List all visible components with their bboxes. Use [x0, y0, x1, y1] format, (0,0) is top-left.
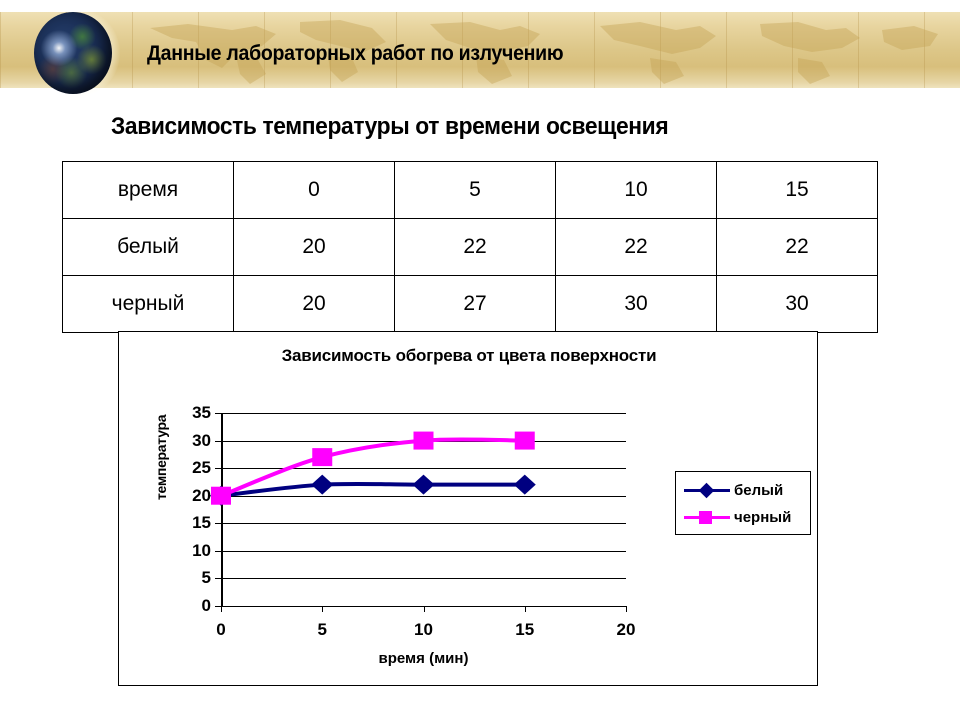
y-tick-label: 10 — [192, 541, 211, 561]
header-banner: Данные лабораторных работ по излучению — [0, 12, 960, 88]
x-tick-label: 20 — [617, 620, 636, 640]
table-cell: 5 — [395, 162, 556, 219]
chart-legend: белый черный — [675, 471, 811, 535]
data-point-белый — [311, 475, 333, 495]
legend-label: белый — [734, 482, 783, 499]
x-tick — [626, 606, 627, 612]
y-axis-label: температура — [153, 415, 169, 500]
series-line-белый — [221, 484, 525, 496]
data-point-черный — [312, 448, 332, 466]
slide-heading: Зависимость температуры от времени освещ… — [111, 113, 668, 141]
x-tick-label: 10 — [414, 620, 433, 640]
table-row-label: черный — [63, 276, 234, 333]
y-tick-label: 30 — [192, 431, 211, 451]
table-row: белый 20 22 22 22 — [63, 219, 878, 276]
x-tick — [525, 606, 526, 612]
table-cell: 27 — [395, 276, 556, 333]
data-point-черный — [414, 432, 434, 450]
page-title: Данные лабораторных работ по излучению — [147, 42, 563, 66]
table-cell: 20 — [234, 276, 395, 333]
data-point-белый — [413, 475, 435, 495]
table-row: время 0 5 10 15 — [63, 162, 878, 219]
table-row-label: белый — [63, 219, 234, 276]
data-point-черный — [515, 432, 535, 450]
table-row: черный 20 27 30 30 — [63, 276, 878, 333]
globe-sphere — [34, 12, 112, 94]
x-tick-label: 5 — [318, 620, 327, 640]
table-cell: 20 — [234, 219, 395, 276]
legend-marker-square-icon — [684, 509, 730, 525]
y-tick-label: 5 — [202, 568, 211, 588]
data-point-белый — [514, 475, 536, 495]
table-cell: 22 — [717, 219, 878, 276]
x-tick — [322, 606, 323, 612]
data-point-черный — [211, 487, 231, 505]
y-tick-label: 35 — [192, 403, 211, 423]
y-tick-label: 15 — [192, 513, 211, 533]
legend-label: черный — [734, 509, 791, 526]
chart-title: Зависимость обогрева от цвета поверхност… — [119, 346, 819, 366]
y-tick-label: 0 — [202, 596, 211, 616]
x-axis-label: время (мин) — [221, 650, 626, 667]
x-tick-label: 0 — [216, 620, 225, 640]
table-cell: 22 — [395, 219, 556, 276]
globe-icon — [26, 6, 118, 98]
chart-container: Зависимость обогрева от цвета поверхност… — [118, 331, 818, 686]
table-cell: 30 — [556, 276, 717, 333]
legend-item-white: белый — [684, 477, 783, 503]
y-tick-label: 25 — [192, 458, 211, 478]
table-row-label: время — [63, 162, 234, 219]
table-cell: 10 — [556, 162, 717, 219]
data-table: время 0 5 10 15 белый 20 22 22 22 черный… — [62, 161, 878, 333]
table-cell: 30 — [717, 276, 878, 333]
y-tick-label: 20 — [192, 486, 211, 506]
table-cell: 15 — [717, 162, 878, 219]
table-cell: 22 — [556, 219, 717, 276]
legend-marker-diamond-icon — [684, 482, 730, 498]
x-tick-label: 15 — [515, 620, 534, 640]
series-line-черный — [221, 439, 525, 495]
plot-area: 05101520253035 05101520 — [221, 413, 626, 606]
legend-item-black: черный — [684, 504, 791, 530]
x-tick — [424, 606, 425, 612]
series-layer — [221, 413, 626, 606]
table-cell: 0 — [234, 162, 395, 219]
x-tick — [221, 606, 222, 612]
